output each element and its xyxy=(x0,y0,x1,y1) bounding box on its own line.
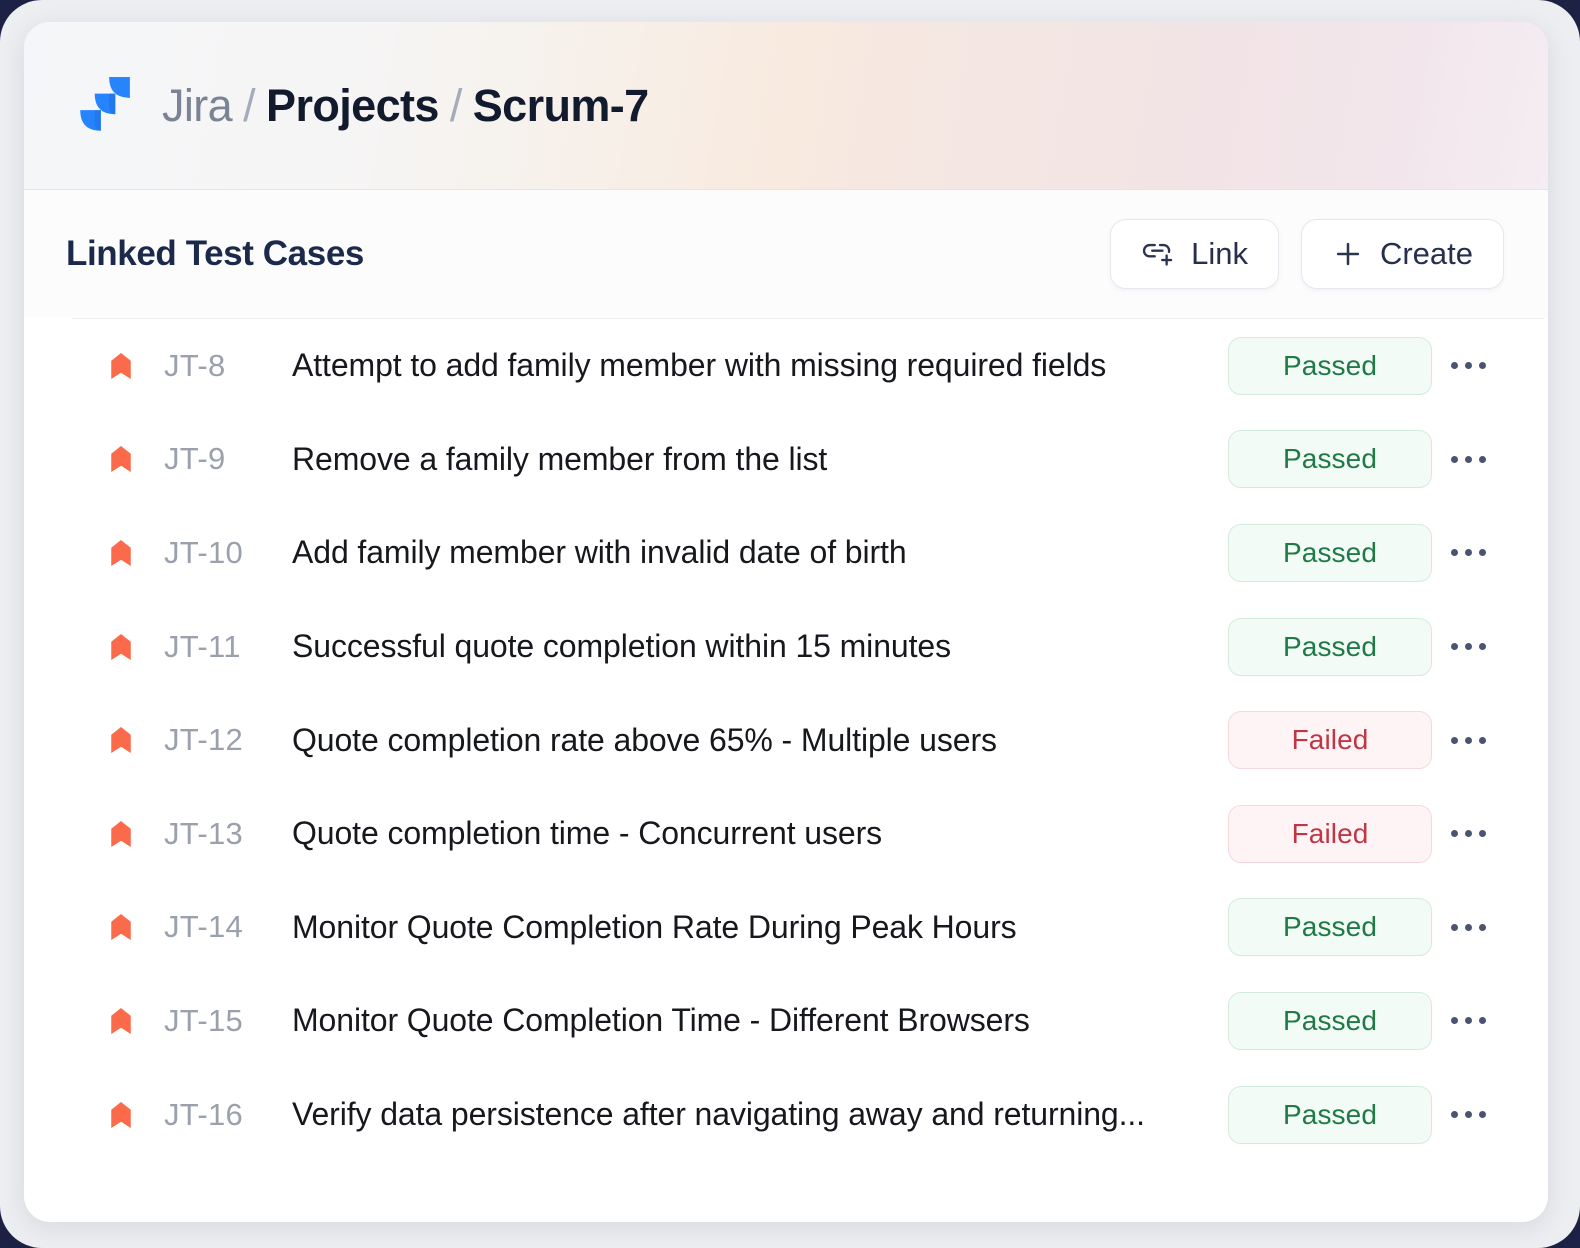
breadcrumb-item[interactable]: Scrum-7 xyxy=(473,80,649,132)
test-case-icon xyxy=(108,632,134,662)
more-horizontal-icon[interactable] xyxy=(1432,902,1504,952)
table-row[interactable]: JT-12 Quote completion rate above 65% - … xyxy=(24,693,1548,787)
more-horizontal-icon[interactable] xyxy=(1432,809,1504,859)
panel-actions: Link Create xyxy=(1110,219,1504,289)
status-badge[interactable]: Passed xyxy=(1228,337,1432,395)
test-case-icon xyxy=(108,1100,134,1130)
table-row[interactable]: JT-9 Remove a family member from the lis… xyxy=(24,413,1548,507)
test-case-icon xyxy=(108,912,134,942)
link-button[interactable]: Link xyxy=(1110,219,1279,289)
test-case-icon xyxy=(108,1006,134,1036)
app-titlebar: Jira / Projects / Scrum-7 xyxy=(24,22,1548,190)
issue-key[interactable]: JT-11 xyxy=(164,629,292,665)
more-horizontal-icon[interactable] xyxy=(1432,622,1504,672)
more-horizontal-icon[interactable] xyxy=(1432,528,1504,578)
issue-key[interactable]: JT-12 xyxy=(164,722,292,758)
issue-summary[interactable]: Remove a family member from the list xyxy=(292,441,1228,478)
link-button-label: Link xyxy=(1191,236,1248,272)
breadcrumb-separator-2: / xyxy=(439,80,473,132)
issue-key[interactable]: JT-14 xyxy=(164,909,292,945)
status-badge[interactable]: Passed xyxy=(1228,618,1432,676)
breadcrumb: Jira / Projects / Scrum-7 xyxy=(162,80,649,132)
test-case-icon xyxy=(108,725,134,755)
issue-key[interactable]: JT-10 xyxy=(164,535,292,571)
jira-logo-icon xyxy=(72,73,138,139)
status-badge[interactable]: Passed xyxy=(1228,524,1432,582)
status-badge[interactable]: Passed xyxy=(1228,430,1432,488)
issue-summary[interactable]: Quote completion time - Concurrent users xyxy=(292,815,1228,852)
link-plus-icon xyxy=(1141,239,1175,269)
test-case-icon xyxy=(108,351,134,381)
issue-key[interactable]: JT-13 xyxy=(164,816,292,852)
more-horizontal-icon[interactable] xyxy=(1432,341,1504,391)
create-button[interactable]: Create xyxy=(1301,219,1504,289)
more-horizontal-icon[interactable] xyxy=(1432,996,1504,1046)
issue-key[interactable]: JT-8 xyxy=(164,348,292,384)
status-badge[interactable]: Passed xyxy=(1228,898,1432,956)
app-frame: Jira / Projects / Scrum-7 Linked Test Ca… xyxy=(0,0,1580,1248)
issue-summary[interactable]: Quote completion rate above 65% - Multip… xyxy=(292,722,1228,759)
status-badge[interactable]: Passed xyxy=(1228,1086,1432,1144)
table-row[interactable]: JT-13 Quote completion time - Concurrent… xyxy=(24,787,1548,881)
issue-summary[interactable]: Attempt to add family member with missin… xyxy=(292,347,1228,384)
table-row[interactable]: JT-16 Verify data persistence after navi… xyxy=(24,1068,1548,1162)
issue-key[interactable]: JT-16 xyxy=(164,1097,292,1133)
table-row[interactable]: JT-11 Successful quote completion within… xyxy=(24,600,1548,694)
issue-summary[interactable]: Add family member with invalid date of b… xyxy=(292,534,1228,571)
status-badge[interactable]: Passed xyxy=(1228,992,1432,1050)
more-horizontal-icon[interactable] xyxy=(1432,715,1504,765)
more-horizontal-icon[interactable] xyxy=(1432,1090,1504,1140)
panel-header: Linked Test Cases Link xyxy=(24,190,1548,318)
create-button-label: Create xyxy=(1380,236,1473,272)
window-card: Jira / Projects / Scrum-7 Linked Test Ca… xyxy=(24,22,1548,1222)
linked-test-cases-list: JT-8 Attempt to add family member with m… xyxy=(24,319,1548,1161)
issue-summary[interactable]: Monitor Quote Completion Time - Differen… xyxy=(292,1002,1228,1039)
page-title: Linked Test Cases xyxy=(66,234,364,274)
breadcrumb-product[interactable]: Jira xyxy=(162,80,232,132)
plus-icon xyxy=(1332,238,1364,270)
test-case-icon xyxy=(108,444,134,474)
issue-key[interactable]: JT-9 xyxy=(164,441,292,477)
table-row[interactable]: JT-14 Monitor Quote Completion Rate Duri… xyxy=(24,881,1548,975)
issue-summary[interactable]: Successful quote completion within 15 mi… xyxy=(292,628,1228,665)
issue-summary[interactable]: Verify data persistence after navigating… xyxy=(292,1096,1228,1133)
issue-summary[interactable]: Monitor Quote Completion Rate During Pea… xyxy=(292,909,1228,946)
breadcrumb-separator-1: / xyxy=(232,80,266,132)
status-badge[interactable]: Failed xyxy=(1228,711,1432,769)
status-badge[interactable]: Failed xyxy=(1228,805,1432,863)
test-case-icon xyxy=(108,819,134,849)
brand: Jira / Projects / Scrum-7 xyxy=(72,73,649,139)
table-row[interactable]: JT-10 Add family member with invalid dat… xyxy=(24,506,1548,600)
issue-key[interactable]: JT-15 xyxy=(164,1003,292,1039)
table-row[interactable]: JT-15 Monitor Quote Completion Time - Di… xyxy=(24,974,1548,1068)
test-case-icon xyxy=(108,538,134,568)
breadcrumb-section[interactable]: Projects xyxy=(266,80,439,132)
more-horizontal-icon[interactable] xyxy=(1432,434,1504,484)
table-row[interactable]: JT-8 Attempt to add family member with m… xyxy=(24,319,1548,413)
